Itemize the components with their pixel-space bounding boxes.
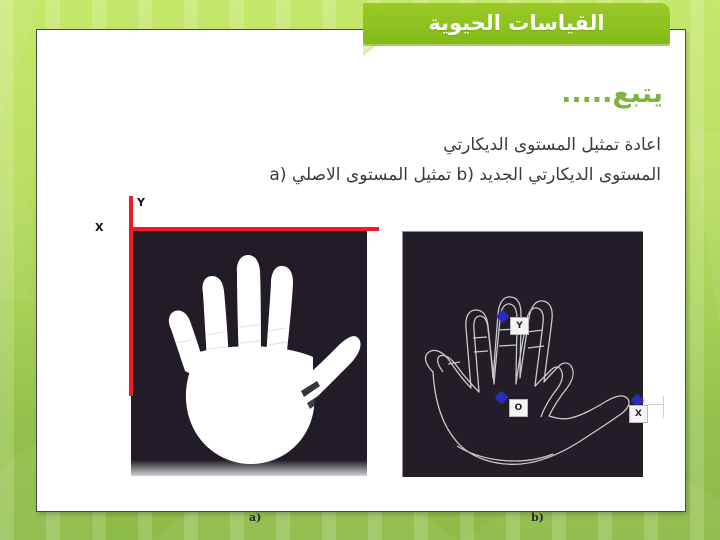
content-card: Y X (36, 29, 686, 512)
title-banner: القياسات الحيوية (363, 3, 670, 44)
hand-silhouette-icon (131, 231, 367, 476)
figure-panel-b (402, 231, 643, 477)
hand-contour-icon (403, 232, 643, 477)
x-axis-label: X (95, 221, 103, 234)
x-axis-line (129, 227, 379, 231)
y-axis-label: Y (137, 196, 145, 209)
marker-y-label: Y (510, 317, 529, 335)
figure-caption-b: b) (531, 511, 544, 524)
marker-o-label: O (509, 399, 528, 417)
page-title: القياسات الحيوية (428, 13, 604, 34)
subheadline: يتبع..... (561, 78, 663, 109)
figure-caption-a: a) (249, 511, 261, 524)
figure-panel-a (131, 231, 367, 476)
marker-x-leader-line (648, 404, 664, 405)
marker-x-label: X (629, 405, 648, 423)
body-text-line-2: المستوى الديكارتي الجديد (b تمثيل المستو… (269, 165, 661, 185)
marker-x-leader-line-vertical (663, 396, 664, 418)
slide-canvas: Y X (0, 0, 720, 540)
y-axis-line (129, 196, 133, 396)
body-text-line-1: اعادة تمثيل المستوى الديكارتي (443, 135, 661, 155)
